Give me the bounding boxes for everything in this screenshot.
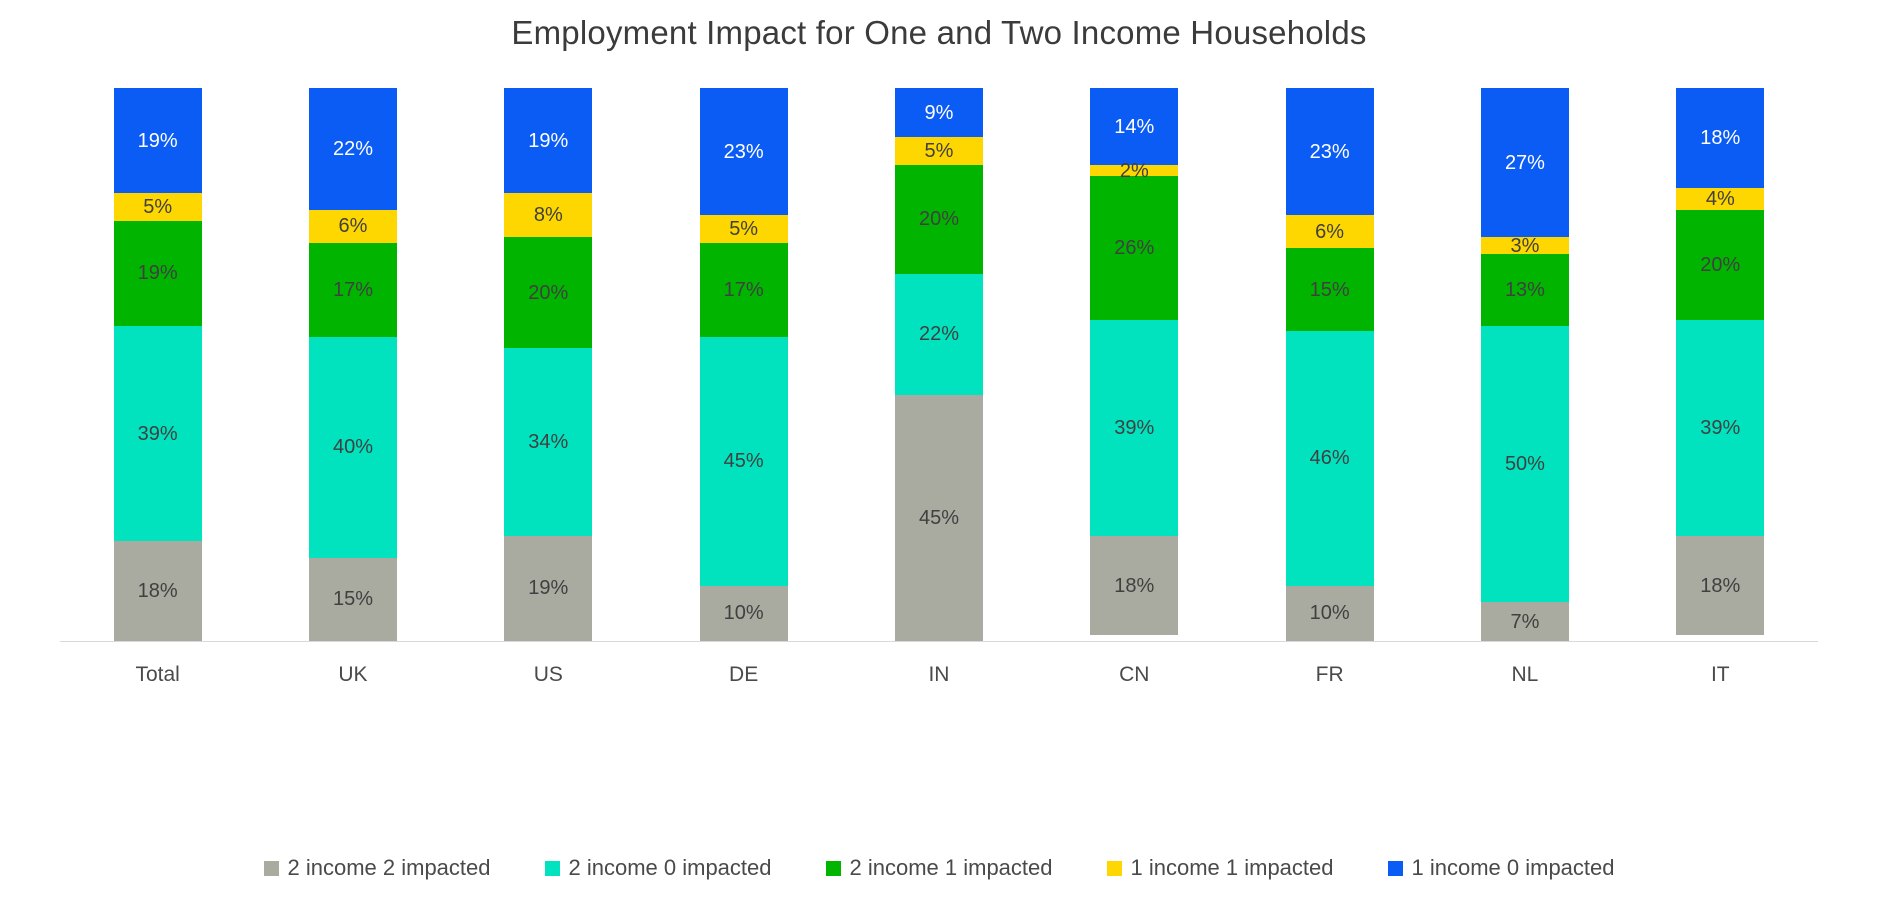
bar-series-group: 19%5%19%39%18%22%6%17%40%15%19%8%20%34%1… [60, 88, 1818, 641]
bar-segment-label: 50% [1505, 454, 1545, 474]
bar-segment-label: 15% [333, 589, 373, 609]
x-axis-tick-label: FR [1232, 663, 1427, 687]
bar-segment[interactable]: 19% [114, 221, 202, 326]
bar-segment[interactable]: 4% [1676, 188, 1764, 210]
bar-segment-label: 20% [528, 283, 568, 303]
x-axis-tick-label: UK [255, 663, 450, 687]
stacked-bar: 23%5%17%45%10% [700, 88, 788, 641]
x-axis-tick-label: US [451, 663, 646, 687]
bar-segment[interactable]: 13% [1481, 254, 1569, 326]
bar-segment[interactable]: 10% [700, 586, 788, 641]
stacked-bar: 19%8%20%34%19% [504, 88, 592, 641]
bar-segment-label: 2% [1120, 161, 1149, 181]
bar-segment-label: 20% [919, 209, 959, 229]
bar-segment[interactable]: 15% [309, 558, 397, 641]
bar-segment[interactable]: 5% [895, 137, 983, 164]
legend-item[interactable]: 1 income 1 impacted [1107, 855, 1334, 881]
bar-segment[interactable]: 20% [504, 237, 592, 348]
bar-segment[interactable]: 14% [1090, 88, 1178, 165]
bar-segment-label: 18% [1700, 576, 1740, 596]
bar-segment-label: 26% [1114, 238, 1154, 258]
bar-segment-label: 19% [138, 131, 178, 151]
legend-item-label: 2 income 2 impacted [288, 855, 491, 881]
bar-segment-label: 39% [1114, 418, 1154, 438]
chart-legend: 2 income 2 impacted2 income 0 impacted2 … [0, 855, 1878, 881]
bar-segment-label: 18% [1114, 576, 1154, 596]
bar-segment-label: 3% [1511, 236, 1540, 256]
bar-segment[interactable]: 18% [1676, 88, 1764, 188]
legend-item[interactable]: 2 income 1 impacted [826, 855, 1053, 881]
bar-segment-label: 5% [143, 197, 172, 217]
legend-item-label: 1 income 0 impacted [1412, 855, 1615, 881]
bar-segment[interactable]: 40% [309, 337, 397, 558]
bar-segment-label: 5% [925, 141, 954, 161]
bar-segment[interactable]: 22% [895, 274, 983, 394]
bar-group-it: 18%4%20%39%18% [1623, 88, 1818, 641]
bar-segment[interactable]: 20% [1676, 210, 1764, 321]
bar-segment-label: 6% [1315, 222, 1344, 242]
bar-group-nl: 27%3%13%50%7% [1427, 88, 1622, 641]
stacked-bar: 23%6%15%46%10% [1286, 88, 1374, 641]
bar-segment-label: 45% [919, 508, 959, 528]
bar-segment-label: 23% [724, 142, 764, 162]
legend-swatch-2-income-1-impacted [826, 861, 841, 876]
bar-segment[interactable]: 23% [1286, 88, 1374, 215]
bar-segment[interactable]: 18% [114, 541, 202, 641]
bar-group-us: 19%8%20%34%19% [451, 88, 646, 641]
bar-segment-label: 18% [138, 581, 178, 601]
legend-item[interactable]: 2 income 2 impacted [264, 855, 491, 881]
plot-area: 19%5%19%39%18%22%6%17%40%15%19%8%20%34%1… [60, 88, 1818, 641]
bar-segment[interactable]: 17% [309, 243, 397, 337]
bar-segment-label: 34% [528, 432, 568, 452]
chart-title: Employment Impact for One and Two Income… [0, 14, 1878, 52]
bar-segment-label: 5% [729, 219, 758, 239]
bar-segment[interactable]: 39% [1090, 320, 1178, 536]
bar-segment-label: 14% [1114, 117, 1154, 137]
x-axis-tick-label: IT [1623, 663, 1818, 687]
x-axis-tick-label: CN [1037, 663, 1232, 687]
bar-segment-label: 15% [1310, 280, 1350, 300]
bar-segment[interactable]: 2% [1090, 165, 1178, 176]
bar-segment[interactable]: 22% [309, 88, 397, 210]
stacked-bar: 22%6%17%40%15% [309, 88, 397, 641]
x-axis-tick-label: DE [646, 663, 841, 687]
bar-segment-label: 22% [919, 324, 959, 344]
bar-segment[interactable]: 50% [1481, 326, 1569, 603]
bar-segment[interactable]: 15% [1286, 248, 1374, 331]
legend-swatch-2-income-2-impacted [264, 861, 279, 876]
bar-segment-label: 17% [333, 280, 373, 300]
bar-segment-label: 4% [1706, 189, 1735, 209]
bar-segment[interactable]: 5% [700, 215, 788, 243]
x-axis-line [60, 641, 1818, 642]
bar-segment[interactable]: 45% [895, 395, 983, 641]
bar-segment[interactable]: 10% [1286, 586, 1374, 641]
bar-segment-label: 39% [1700, 418, 1740, 438]
bar-segment-label: 7% [1511, 612, 1540, 632]
stacked-bar: 27%3%13%50%7% [1481, 88, 1569, 641]
legend-item-label: 2 income 1 impacted [850, 855, 1053, 881]
bar-segment[interactable]: 39% [1676, 320, 1764, 536]
bar-group-uk: 22%6%17%40%15% [255, 88, 450, 641]
bar-segment[interactable]: 6% [1286, 215, 1374, 248]
bar-segment-label: 18% [1700, 128, 1740, 148]
bar-group-cn: 14%2%26%39%18% [1037, 88, 1232, 641]
bar-group-de: 23%5%17%45%10% [646, 88, 841, 641]
legend-swatch-1-income-1-impacted [1107, 861, 1122, 876]
stacked-bar: 18%4%20%39%18% [1676, 88, 1764, 641]
bar-segment[interactable]: 3% [1481, 237, 1569, 254]
legend-item[interactable]: 1 income 0 impacted [1388, 855, 1615, 881]
bar-segment[interactable]: 18% [1676, 536, 1764, 636]
bar-segment[interactable]: 26% [1090, 176, 1178, 320]
bar-segment-label: 40% [333, 437, 373, 457]
bar-segment-label: 13% [1505, 280, 1545, 300]
legend-item[interactable]: 2 income 0 impacted [545, 855, 772, 881]
stacked-bar: 9%5%20%22%45% [895, 88, 983, 641]
bar-segment-label: 19% [138, 263, 178, 283]
bar-segment[interactable]: 46% [1286, 331, 1374, 585]
bar-segment[interactable]: 8% [504, 193, 592, 237]
bar-segment-label: 27% [1505, 153, 1545, 173]
x-axis-tick-label: NL [1427, 663, 1622, 687]
stacked-bar: 14%2%26%39%18% [1090, 88, 1178, 641]
bar-group-fr: 23%6%15%46%10% [1232, 88, 1427, 641]
bar-segment-label: 19% [528, 131, 568, 151]
chart-container: Employment Impact for One and Two Income… [0, 0, 1878, 912]
x-axis-category-labels: TotalUKUSDEINCNFRNLIT [60, 650, 1818, 700]
bar-segment[interactable]: 23% [700, 88, 788, 215]
bar-segment-label: 10% [724, 603, 764, 623]
bar-segment[interactable]: 39% [114, 326, 202, 542]
bar-segment-label: 8% [534, 205, 563, 225]
bar-segment[interactable]: 20% [895, 165, 983, 275]
bar-segment[interactable]: 45% [700, 337, 788, 586]
legend-swatch-1-income-0-impacted [1388, 861, 1403, 876]
bar-segment[interactable]: 34% [504, 348, 592, 536]
stacked-bar: 19%5%19%39%18% [114, 88, 202, 641]
bar-segment-label: 45% [724, 451, 764, 471]
bar-segment[interactable]: 7% [1481, 602, 1569, 641]
bar-segment-label: 9% [925, 103, 954, 123]
bar-segment-label: 17% [724, 280, 764, 300]
bar-segment[interactable]: 9% [895, 88, 983, 137]
bar-segment-label: 20% [1700, 255, 1740, 275]
bar-group-in: 9%5%20%22%45% [841, 88, 1036, 641]
bar-segment[interactable]: 17% [700, 243, 788, 337]
bar-segment[interactable]: 5% [114, 193, 202, 221]
bar-segment-label: 10% [1310, 603, 1350, 623]
bar-segment-label: 46% [1310, 448, 1350, 468]
bar-segment[interactable]: 6% [309, 210, 397, 243]
bar-segment[interactable]: 19% [114, 88, 202, 193]
bar-segment-label: 19% [528, 578, 568, 598]
x-axis-tick-label: Total [60, 663, 255, 687]
legend-item-label: 2 income 0 impacted [569, 855, 772, 881]
bar-segment[interactable]: 19% [504, 88, 592, 193]
bar-group-total: 19%5%19%39%18% [60, 88, 255, 641]
bar-segment-label: 22% [333, 139, 373, 159]
x-axis-tick-label: IN [841, 663, 1036, 687]
legend-swatch-2-income-0-impacted [545, 861, 560, 876]
bar-segment-label: 6% [339, 216, 368, 236]
bar-segment[interactable]: 19% [504, 536, 592, 641]
legend-item-label: 1 income 1 impacted [1131, 855, 1334, 881]
bar-segment[interactable]: 27% [1481, 88, 1569, 237]
bar-segment[interactable]: 18% [1090, 536, 1178, 636]
bar-segment-label: 23% [1310, 142, 1350, 162]
bar-segment-label: 39% [138, 424, 178, 444]
